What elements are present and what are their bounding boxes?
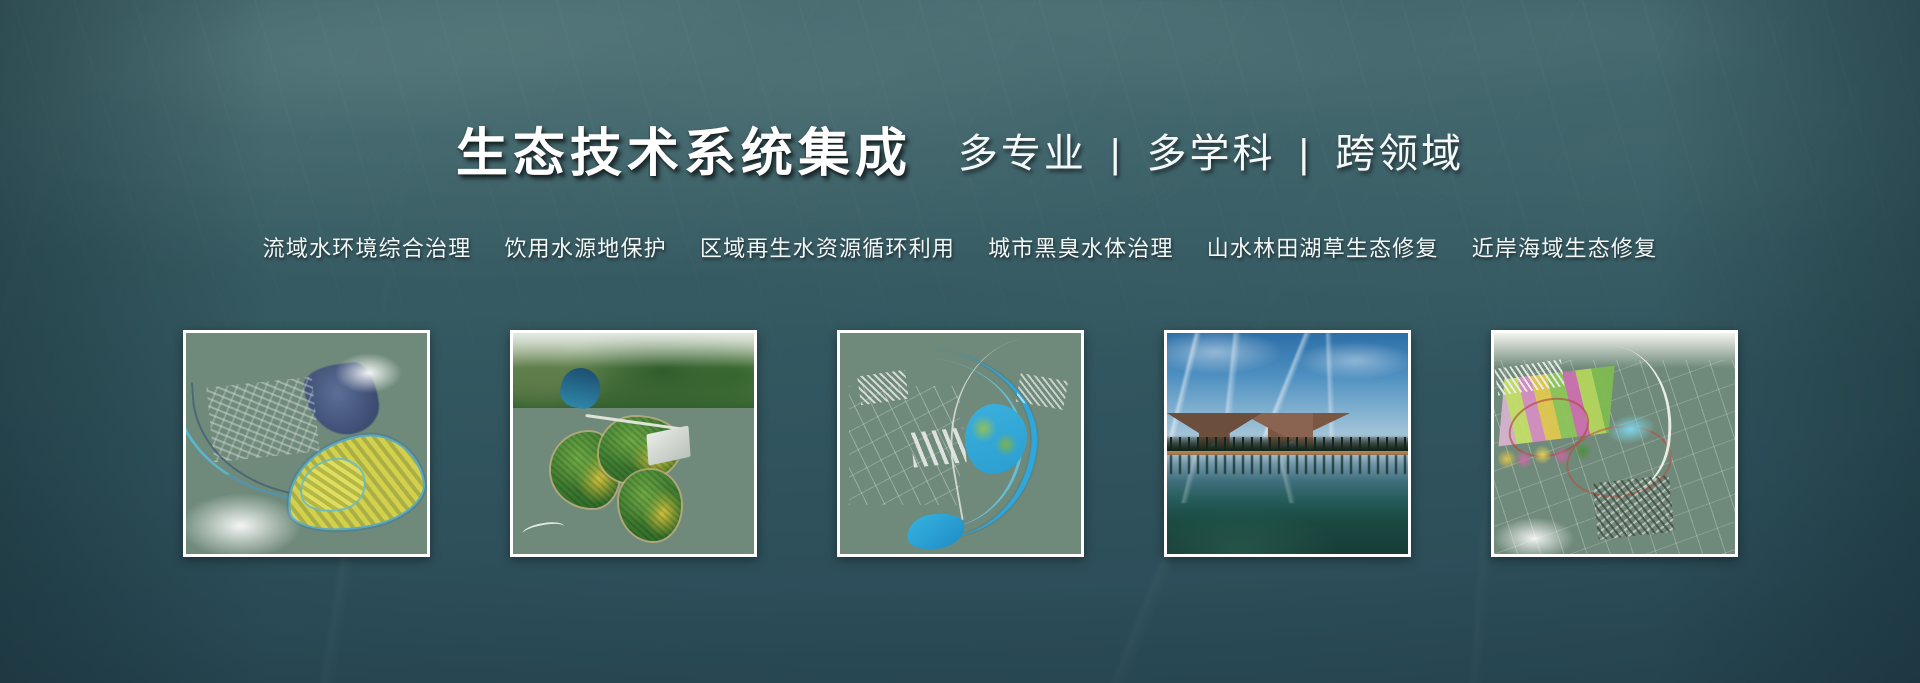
subtitle-part-1: 多专业: [958, 132, 1087, 176]
service-tag-drinking-water[interactable]: 饮用水源地保护: [504, 231, 666, 263]
thumbnail-watershed-plain-aerial[interactable]: [183, 330, 430, 557]
subtitle-part-3: 跨领域: [1335, 132, 1464, 176]
service-tag-coastal[interactable]: 近岸海域生态修复: [1472, 231, 1658, 263]
thumbnail-image-4: [1167, 333, 1408, 554]
village-cluster: [1592, 475, 1675, 540]
headline-row: 生态技术系统集成 多专业 | 多学科 | 跨领域: [0, 118, 1920, 190]
boat-wake: [521, 519, 566, 542]
thumbnail-farmland-patchwork-village[interactable]: [1491, 330, 1738, 557]
service-tag-reclaimed-water[interactable]: 区域再生水资源循环利用: [700, 231, 955, 263]
service-tag-black-odorous[interactable]: 城市黑臭水体治理: [988, 231, 1174, 263]
subtitle-separator-2: |: [1290, 132, 1321, 176]
subtitle-separator-1: |: [1101, 132, 1132, 176]
island-front: [619, 470, 682, 541]
banner-content: 生态技术系统集成 多专业 | 多学科 | 跨领域 流域水环境综合治理 饮用水源地…: [0, 0, 1920, 683]
thumbnail-image-5: [1494, 333, 1735, 554]
subtitle-part-2: 多学科: [1147, 132, 1276, 176]
thumbnail-image-3: [840, 333, 1081, 554]
horizon-haze: [513, 333, 754, 368]
thumbnail-lake-forest-islands[interactable]: [510, 330, 757, 557]
thumbnail-image-2: [513, 333, 754, 554]
thumbnail-gallery: [0, 330, 1920, 560]
water-depth-glow: [1167, 488, 1408, 554]
thumbnail-river-corridor-fields[interactable]: [837, 330, 1084, 557]
thumbnail-image-1: [186, 333, 427, 554]
greenhouse-blocks: [910, 428, 966, 469]
service-tag-row: 流域水环境综合治理 饮用水源地保护 区域再生水资源循环利用 城市黑臭水体治理 山…: [0, 232, 1920, 262]
page-title: 生态技术系统集成: [456, 128, 912, 180]
thumbnail-mountain-lake-reflection[interactable]: [1164, 330, 1411, 557]
service-tag-ecological-restoration[interactable]: 山水林田湖草生态修复: [1207, 231, 1439, 263]
hero-banner: 生态技术系统集成 多专业 | 多学科 | 跨领域 流域水环境综合治理 饮用水源地…: [0, 0, 1920, 683]
page-subtitle: 多专业 | 多学科 | 跨领域: [958, 134, 1464, 174]
service-tag-watershed[interactable]: 流域水环境综合治理: [263, 231, 472, 263]
